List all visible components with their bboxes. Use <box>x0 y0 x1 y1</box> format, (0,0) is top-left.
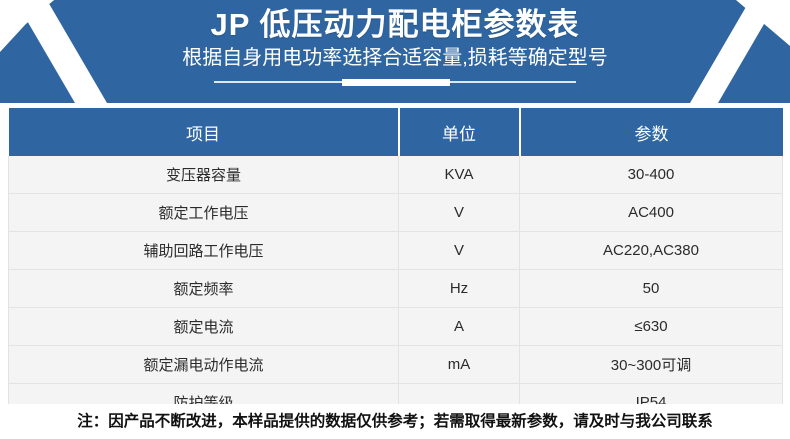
cell-item: 额定频率 <box>9 270 399 308</box>
cell-item: 额定电流 <box>9 308 399 346</box>
cell-unit: mA <box>399 346 520 384</box>
cell-item: 额定工作电压 <box>9 194 399 232</box>
page-subtitle: 根据自身用电功率选择合适容量,损耗等确定型号 <box>182 45 608 71</box>
divider-center-bar <box>342 79 450 86</box>
cell-unit: Hz <box>399 270 520 308</box>
cell-item: 额定漏电动作电流 <box>9 346 399 384</box>
spec-sheet-page: JP 低压动力配电柜参数表 根据自身用电功率选择合适容量,损耗等确定型号 项目 … <box>0 0 790 439</box>
table-row: 辅助回路工作电压 V AC220,AC380 <box>9 232 783 270</box>
table-header-row: 项目 单位 参数 <box>9 108 783 156</box>
table-row: 变压器容量 KVA 30-400 <box>9 156 783 194</box>
footer-note: 注：因产品不断改进，本样品提供的数据仅供参考；若需取得最新参数，请及时与我公司联… <box>0 404 790 439</box>
table-row: 额定频率 Hz 50 <box>9 270 783 308</box>
spec-table: 项目 单位 参数 变压器容量 KVA 30-400 额定工作电压 V AC400… <box>8 108 783 422</box>
cell-unit: KVA <box>399 156 520 194</box>
cell-param: 50 <box>520 270 783 308</box>
title-divider <box>214 78 576 86</box>
cell-param: 30-400 <box>520 156 783 194</box>
cell-param: AC220,AC380 <box>520 232 783 270</box>
spec-table-head: 项目 单位 参数 <box>9 108 783 156</box>
cell-item: 变压器容量 <box>9 156 399 194</box>
cell-unit: A <box>399 308 520 346</box>
spec-table-body: 变压器容量 KVA 30-400 额定工作电压 V AC400 辅助回路工作电压… <box>9 156 783 422</box>
spec-table-container: 项目 单位 参数 变压器容量 KVA 30-400 额定工作电压 V AC400… <box>8 108 782 422</box>
column-header-item: 项目 <box>9 108 399 156</box>
cell-param: AC400 <box>520 194 783 232</box>
header-banner: JP 低压动力配电柜参数表 根据自身用电功率选择合适容量,损耗等确定型号 <box>0 0 790 103</box>
column-header-param: 参数 <box>520 108 783 156</box>
cell-unit: V <box>399 194 520 232</box>
cell-item: 辅助回路工作电压 <box>9 232 399 270</box>
banner-content: JP 低压动力配电柜参数表 根据自身用电功率选择合适容量,损耗等确定型号 <box>0 0 790 103</box>
column-header-unit: 单位 <box>399 108 520 156</box>
table-row: 额定电流 A ≤630 <box>9 308 783 346</box>
table-row: 额定漏电动作电流 mA 30~300可调 <box>9 346 783 384</box>
cell-unit: V <box>399 232 520 270</box>
cell-param: 30~300可调 <box>520 346 783 384</box>
cell-param: ≤630 <box>520 308 783 346</box>
footer-note-text: 注：因产品不断改进，本样品提供的数据仅供参考；若需取得最新参数，请及时与我公司联… <box>77 412 713 432</box>
table-row: 额定工作电压 V AC400 <box>9 194 783 232</box>
page-title: JP 低压动力配电柜参数表 <box>211 6 580 44</box>
